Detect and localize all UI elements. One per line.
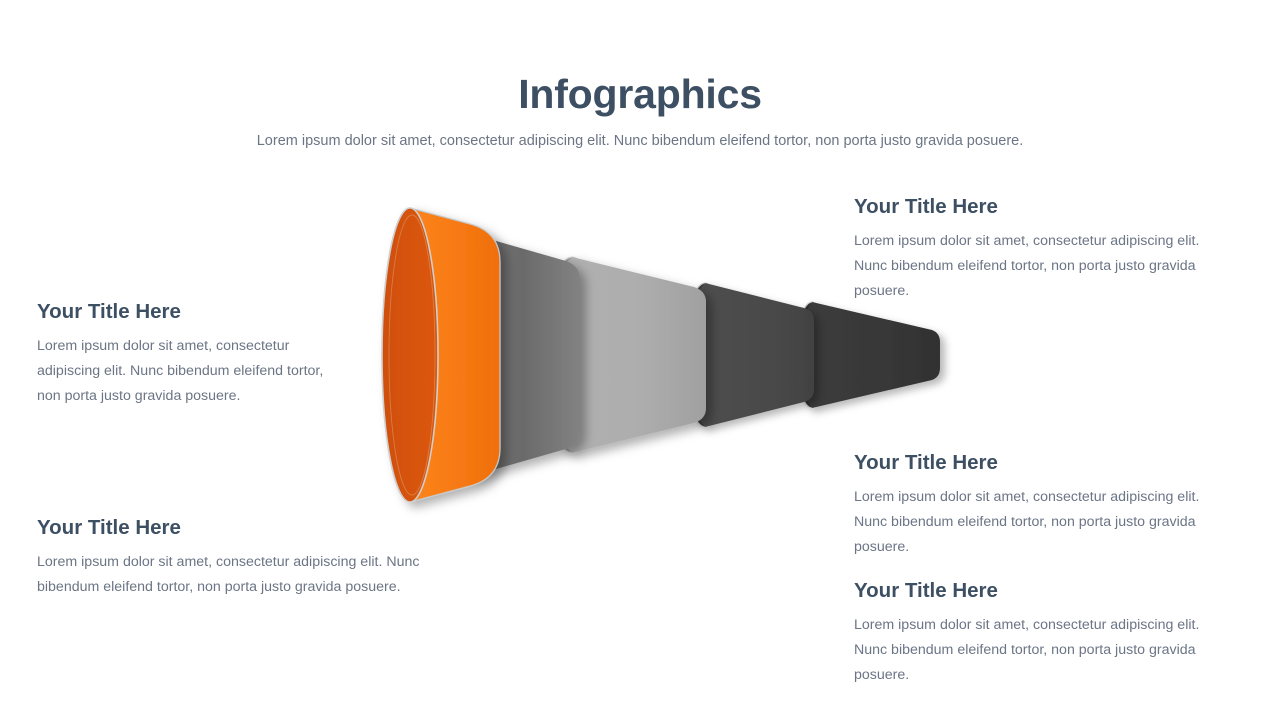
block-title: Your Title Here xyxy=(854,195,1229,220)
page-title: Infographics xyxy=(0,72,1280,117)
text-block-right-3: Your Title Here Lorem ipsum dolor sit am… xyxy=(854,579,1229,688)
block-body: Lorem ipsum dolor sit amet, consectetur … xyxy=(854,613,1229,688)
infographic-slide: Infographics Lorem ipsum dolor sit amet,… xyxy=(0,0,1280,720)
block-body: Lorem ipsum dolor sit amet, consectetur … xyxy=(37,334,327,409)
block-title: Your Title Here xyxy=(854,451,1229,476)
text-block-right-2: Your Title Here Lorem ipsum dolor sit am… xyxy=(854,451,1229,560)
text-block-left-2: Your Title Here Lorem ipsum dolor sit am… xyxy=(37,516,422,600)
funnel-segment-5-darkest xyxy=(796,302,940,408)
segment-1-mouth-face xyxy=(382,208,438,502)
funnel-segment-1-orange xyxy=(382,208,500,502)
block-title: Your Title Here xyxy=(37,516,422,541)
block-body: Lorem ipsum dolor sit amet, consectetur … xyxy=(37,550,422,600)
block-body: Lorem ipsum dolor sit amet, consectetur … xyxy=(854,229,1229,304)
text-block-left-1: Your Title Here Lorem ipsum dolor sit am… xyxy=(37,300,327,409)
block-body: Lorem ipsum dolor sit amet, consectetur … xyxy=(854,485,1229,560)
block-title: Your Title Here xyxy=(854,579,1229,604)
block-title: Your Title Here xyxy=(37,300,327,325)
page-subtitle: Lorem ipsum dolor sit amet, consectetur … xyxy=(0,131,1280,151)
header: Infographics Lorem ipsum dolor sit amet,… xyxy=(0,72,1280,151)
text-block-right-1: Your Title Here Lorem ipsum dolor sit am… xyxy=(854,195,1229,304)
segment-5-body xyxy=(796,302,940,408)
